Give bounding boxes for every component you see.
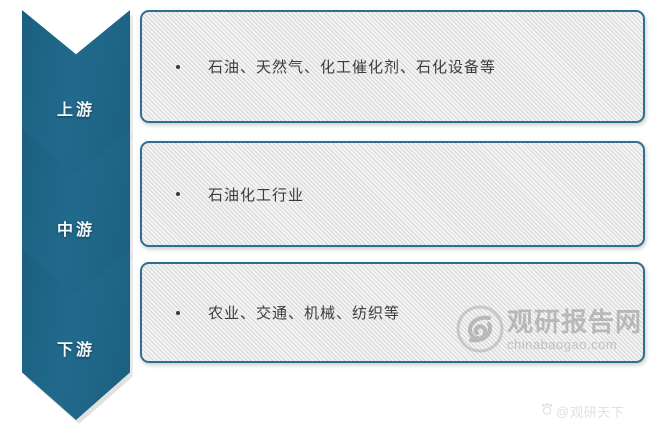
content-box-upstream: 石油、天然气、化工催化剂、石化设备等	[140, 10, 645, 123]
content-text-midstream: 石油化工行业	[208, 184, 304, 205]
list-item: 石油化工行业	[142, 184, 304, 205]
content-text-upstream: 石油、天然气、化工催化剂、石化设备等	[208, 56, 496, 77]
list-item: 农业、交通、机械、纺织等	[142, 302, 400, 323]
content-box-midstream: 石油化工行业	[140, 141, 645, 247]
content-box-downstream: 农业、交通、机械、纺织等	[140, 262, 645, 363]
content-text-downstream: 农业、交通、机械、纺织等	[208, 302, 400, 323]
attribution: @ 观研天下	[540, 402, 624, 421]
at-symbol: @	[556, 404, 569, 419]
bullet-icon	[176, 192, 180, 196]
bullet-icon	[176, 311, 180, 315]
bullet-icon	[176, 65, 180, 69]
diagram-canvas: 上游 中游 下游 石油、天然气、化工催化剂、石化设备等 石油化工行业 农业、交通…	[0, 0, 663, 437]
paw-icon	[540, 402, 554, 421]
attribution-handle: 观研天下	[570, 402, 624, 421]
stage-chevron-column: 上游 中游 下游	[0, 0, 150, 437]
list-item: 石油、天然气、化工催化剂、石化设备等	[142, 56, 496, 77]
